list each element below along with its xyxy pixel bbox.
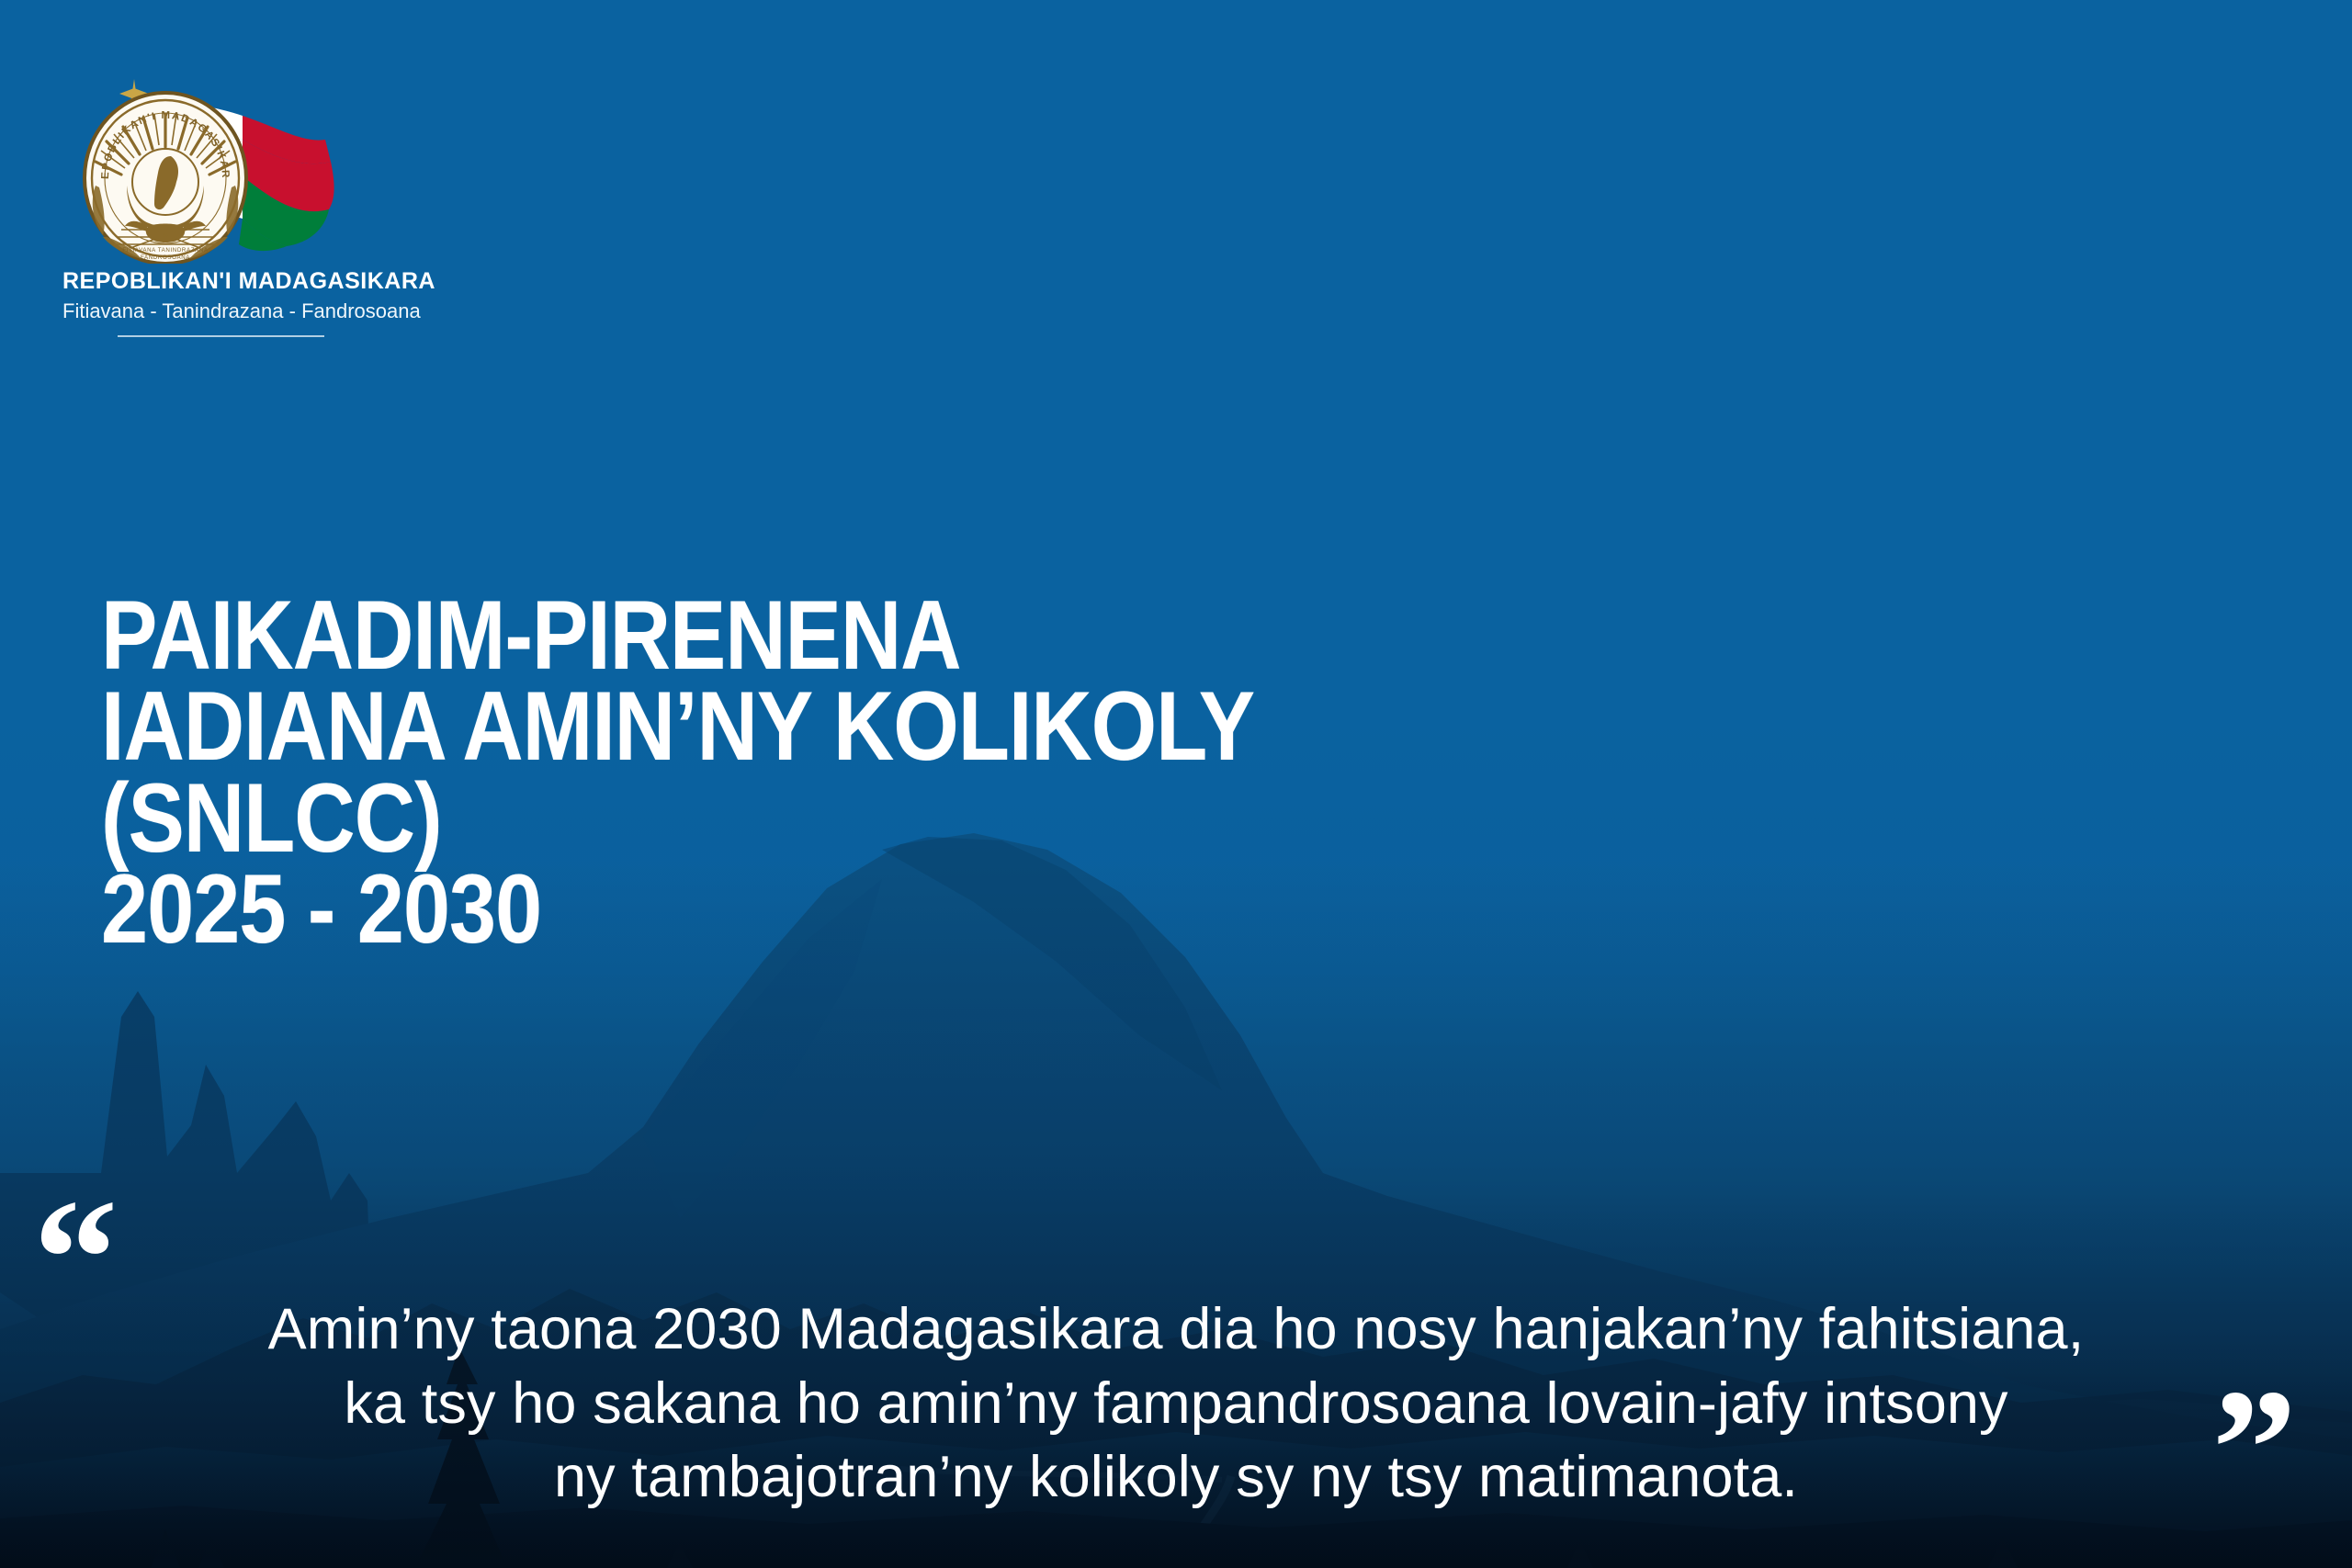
title-line-4: 2025 - 2030: [101, 863, 1254, 955]
quote-line-1: Amin’ny taona 2030 Madagasikara dia ho n…: [138, 1292, 2214, 1367]
logo-divider: [118, 335, 324, 337]
madagascar-emblem-icon: REPOBLIKAN'I MADAGASIKARA: [62, 48, 366, 264]
state-seal-icon: REPOBLIKAN'I MADAGASIKARA: [62, 48, 248, 264]
quote-line-2: ka tsy ho sakana ho amin’ny fampandrosoa…: [138, 1367, 2214, 1441]
quote-text: Amin’ny taona 2030 Madagasikara dia ho n…: [138, 1292, 2214, 1515]
vision-quote: “ Amin’ny taona 2030 Madagasikara dia ho…: [0, 1292, 2352, 1515]
emblem-and-flag: REPOBLIKAN'I MADAGASIKARA: [62, 48, 366, 264]
logo-motto: Fitiavana - Tanindrazana - Fandrosoana: [62, 299, 485, 322]
svg-text:FANDROSOANA: FANDROSOANA: [141, 254, 190, 261]
title-line-3: (SNLCC): [101, 773, 1254, 864]
svg-text:FITIAVANA TANINDRAZANA: FITIAVANA TANINDRAZANA: [122, 247, 208, 254]
cover-slide: REPOBLIKAN'I MADAGASIKARA: [0, 0, 2352, 1568]
page-title: PAIKADIM-PIRENENA IADIANA AMIN’NY KOLIKO…: [101, 590, 1254, 955]
quote-close-icon: ”: [2212, 1407, 2298, 1493]
quote-open-icon: “: [33, 1217, 119, 1303]
government-logo: REPOBLIKAN'I MADAGASIKARA: [62, 48, 485, 337]
logo-country-name: REPOBLIKAN'I MADAGASIKARA: [62, 269, 485, 295]
title-line-2: IADIANA AMIN’NY KOLIKOLY: [101, 681, 1254, 773]
title-line-1: PAIKADIM-PIRENENA: [101, 590, 1254, 682]
quote-line-3: ny tambajotran’ny kolikoly sy ny tsy mat…: [138, 1440, 2214, 1515]
